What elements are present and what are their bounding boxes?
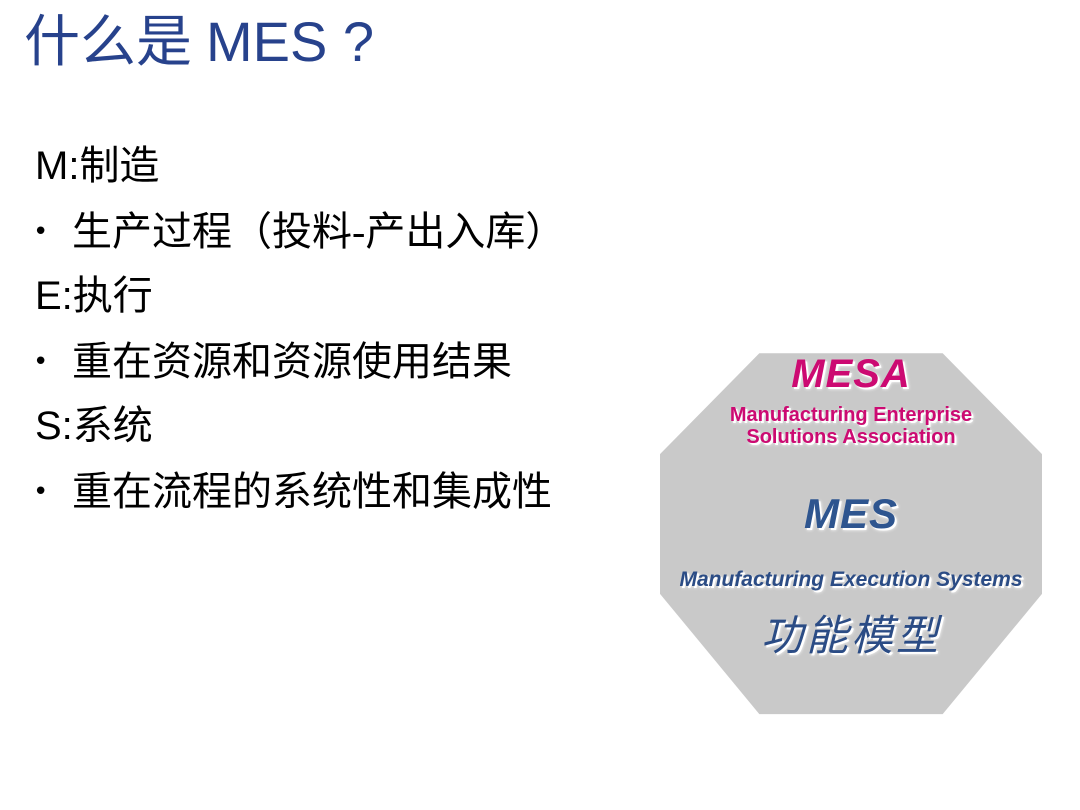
page-title-chinese: 什么是 — [24, 12, 206, 74]
heading-letter-m: M: — [35, 144, 79, 188]
list-item-heading-e: E:执行 — [0, 268, 660, 324]
list-item-bullet-3: •重在流程的系统性和集成性 — [0, 456, 660, 528]
mesa-octagon-diagram: MESA Manufacturing Enterprise Solutions … — [660, 330, 1042, 718]
list-item-bullet-2: •重在资源和资源使用结果 — [0, 326, 660, 398]
list-item-heading-m: M:制造 — [0, 138, 660, 194]
bullet-text-2: 重在资源和资源使用结果 — [72, 339, 512, 384]
heading-letter-e: E: — [35, 274, 73, 318]
heading-text-s: 系统 — [73, 403, 153, 448]
bullet-text-1: 生产过程（投料-产出入库） — [72, 209, 565, 254]
slide-canvas: 什么是 MES ? M:制造 •生产过程（投料-产出入库） E:执行 •重在资源… — [0, 0, 1080, 810]
mesa-subtitle: Manufacturing Enterprise Solutions Assoc… — [660, 404, 1042, 448]
bullet-text-3: 重在流程的系统性和集成性 — [72, 469, 552, 514]
heading-text-m: 制造 — [79, 143, 159, 188]
list-item-bullet-1: •生产过程（投料-产出入库） — [0, 196, 660, 268]
page-title: 什么是 MES ? — [24, 8, 924, 77]
heading-letter-s: S: — [35, 404, 73, 448]
mesa-subtitle-line1: Manufacturing Enterprise — [660, 404, 1042, 426]
mesa-title: MESA — [660, 352, 1042, 397]
mes-subtitle: Manufacturing Execution Systems — [660, 568, 1042, 592]
bullet-marker-icon: • — [33, 326, 48, 398]
octagon-text-group: MESA Manufacturing Enterprise Solutions … — [660, 330, 1042, 718]
body-bullet-list: M:制造 •生产过程（投料-产出入库） E:执行 •重在资源和资源使用结果 S:… — [0, 138, 660, 528]
bullet-marker-icon: • — [33, 196, 48, 268]
mes-chinese-label: 功能模型 — [660, 602, 1042, 663]
heading-text-e: 执行 — [73, 273, 153, 318]
mes-title: MES — [660, 490, 1042, 538]
mesa-subtitle-line2: Solutions Association — [660, 426, 1042, 448]
page-title-latin: MES ? — [206, 10, 374, 73]
bullet-marker-icon: • — [33, 456, 48, 528]
list-item-heading-s: S:系统 — [0, 398, 660, 454]
